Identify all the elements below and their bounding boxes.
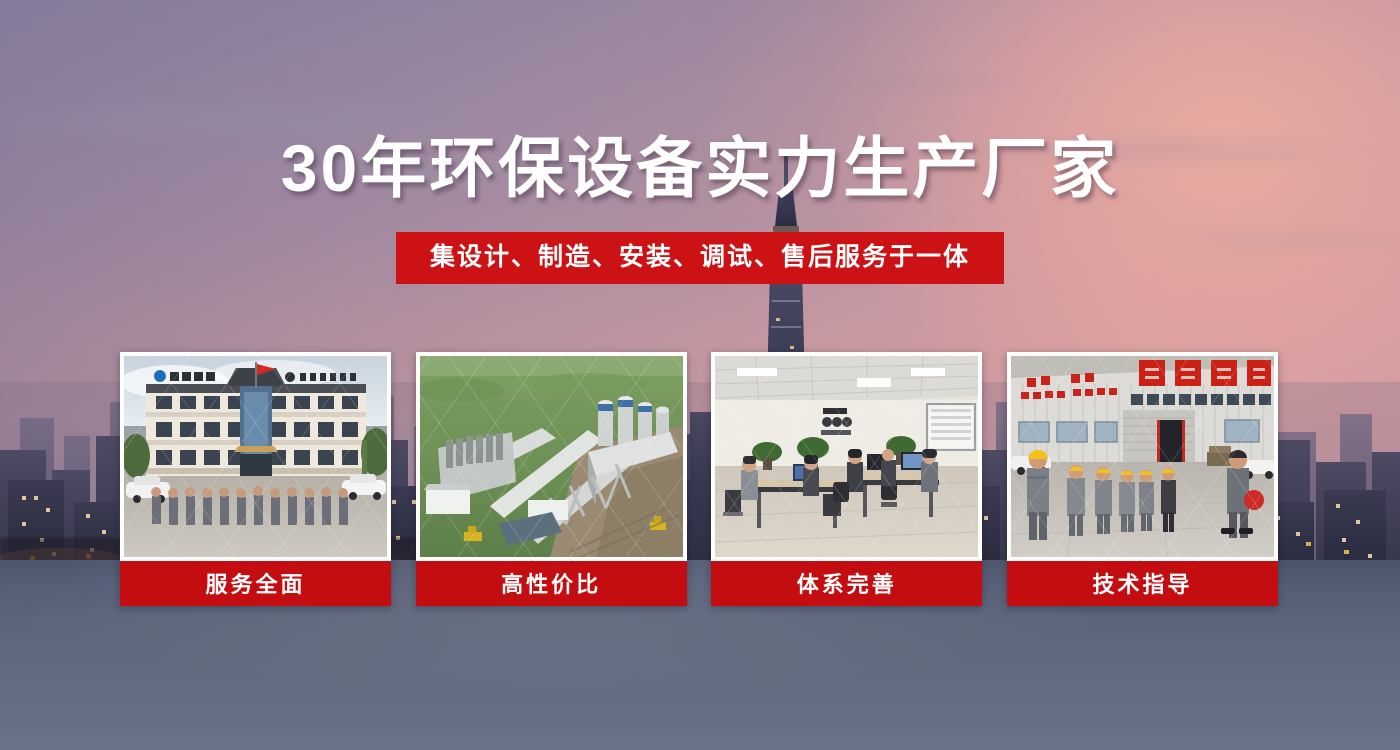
card-label-text: 技术指导 (1092, 567, 1192, 599)
card-label-text: 服务全面 (205, 567, 305, 599)
card-label-text: 体系完善 (797, 567, 897, 599)
promotional-banner: 30年环保设备实力生产厂家 集设计、制造、安装、调试、售后服务于一体 (0, 0, 1400, 750)
feature-card[interactable]: 服务全面 (120, 352, 391, 606)
card-label-text: 高性价比 (501, 567, 601, 599)
subtitle-banner: 集设计、制造、安装、调试、售后服务于一体 (396, 232, 1004, 284)
card-label-bar: 高性价比 (416, 557, 687, 606)
card-photo-office-interior (715, 356, 978, 557)
subtitle-bar-wrapper: 集设计、制造、安装、调试、售后服务于一体 (0, 232, 1400, 284)
card-label-bar: 服务全面 (120, 557, 391, 606)
feature-card[interactable]: 技术指导 (1007, 352, 1278, 606)
card-label-bar: 技术指导 (1007, 557, 1278, 606)
page-title: 30年环保设备实力生产厂家 (0, 132, 1400, 206)
feature-card[interactable]: 体系完善 (711, 352, 982, 606)
feature-card-row: 服务全面 (120, 352, 1278, 606)
card-label-bar: 体系完善 (711, 557, 982, 606)
feature-card[interactable]: 高性价比 (416, 352, 687, 606)
card-photo-workers-briefing (1011, 356, 1274, 557)
card-photo-industrial-plant (420, 356, 683, 557)
card-photo-office-building (124, 356, 387, 557)
